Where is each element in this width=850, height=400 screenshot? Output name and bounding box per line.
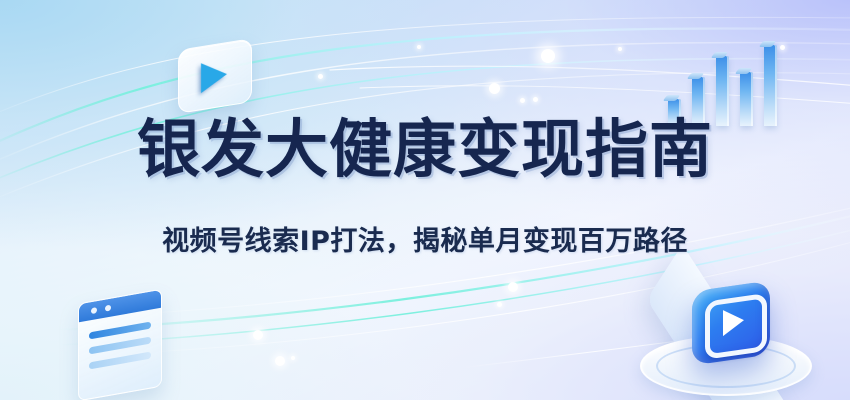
play-icon [178,38,252,114]
document-window-icon [78,289,162,400]
window-text-line [89,322,151,340]
promo-banner: 银发大健康变现指南 视频号线索IP打法，揭秘单月变现百万路径 [0,0,850,400]
subtitle-container: 视频号线索IP打法，揭秘单月变现百万路径 [0,228,850,255]
page-title: 银发大健康变现指南 [137,118,713,181]
page-subtitle: 视频号线索IP打法，揭秘单月变现百万路径 [162,228,688,255]
video-play-icon [692,281,770,366]
title-container: 银发大健康变现指南 [0,118,850,181]
window-text-line [89,337,151,355]
window-text-line [89,352,151,370]
